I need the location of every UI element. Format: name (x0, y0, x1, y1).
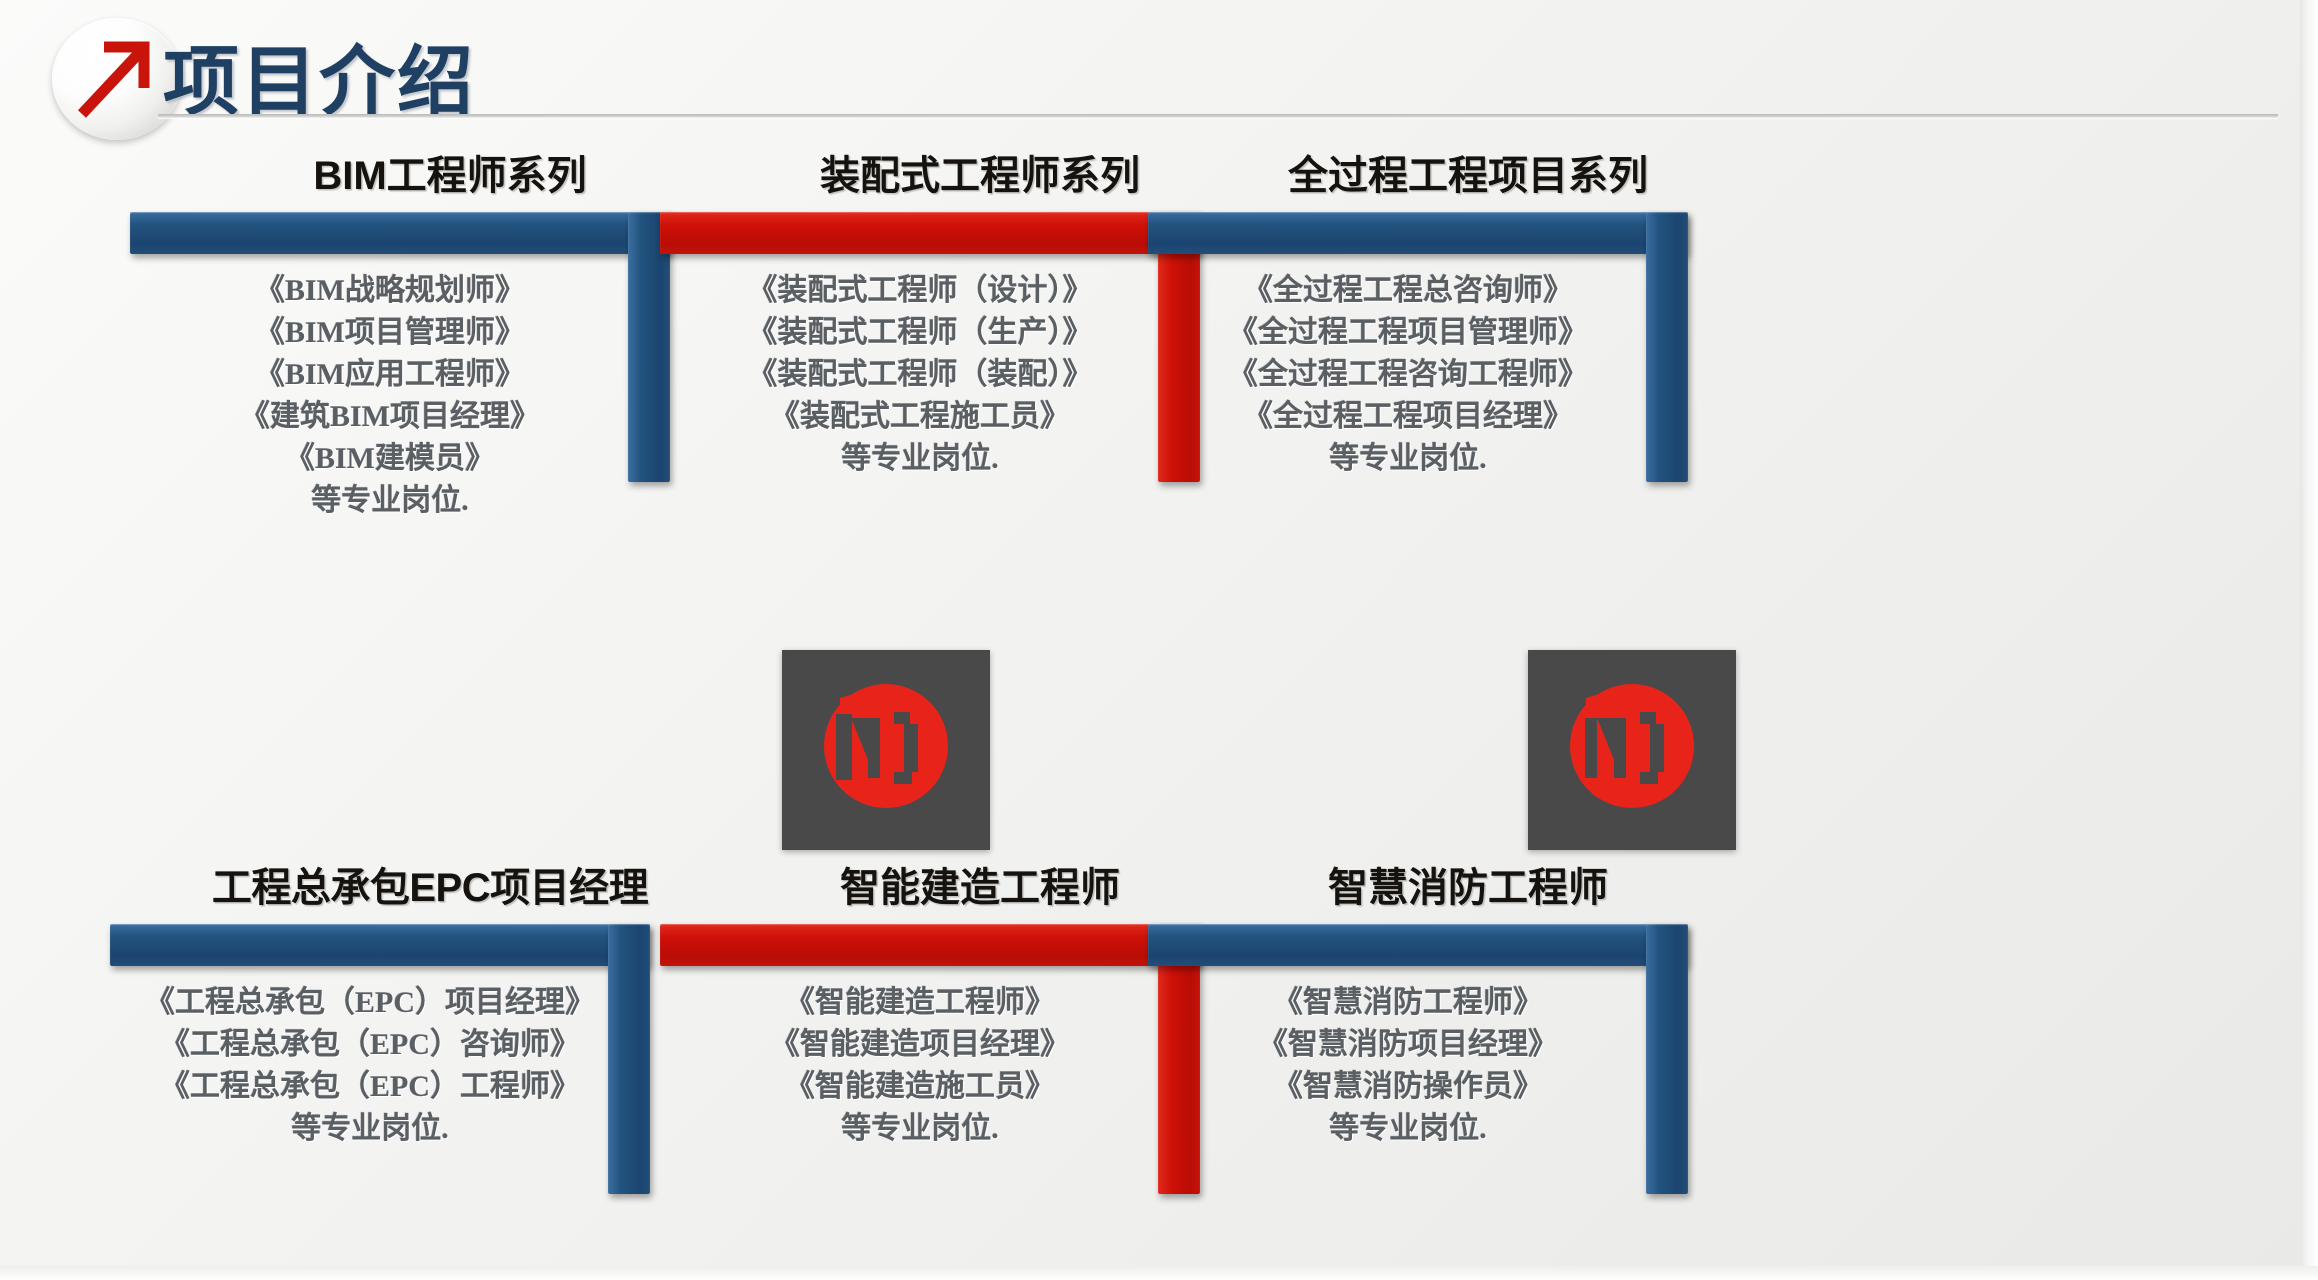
list-item: 《装配式工程施工员》 (660, 396, 1180, 438)
bracket-top-bar (1148, 924, 1688, 966)
card-title: 全过程工程项目系列 (1148, 150, 1788, 202)
list-item: 《全过程工程项目经理》 (1148, 396, 1668, 438)
list-item: 《BIM战略规划师》 (130, 270, 650, 312)
card-item-list: 《智能建造工程师》 《智能建造项目经理》 《智能建造施工员》 等专业岗位. (660, 982, 1180, 1150)
bottom-edge-strip (0, 1266, 2318, 1280)
list-item: 《工程总承包（EPC）工程师》 (110, 1066, 630, 1108)
list-item: 《智能建造施工员》 (660, 1066, 1180, 1108)
list-item: 《智能建造工程师》 (660, 982, 1180, 1024)
list-item: 《装配式工程师（生产）》 (660, 312, 1180, 354)
bracket-top-bar (110, 924, 650, 966)
card-title: 智慧消防工程师 (1148, 862, 1788, 914)
card-item-list: 《工程总承包（EPC）项目经理》 《工程总承包（EPC）咨询师》 《工程总承包（… (110, 982, 630, 1150)
ntc-logo-right (1528, 650, 1736, 850)
list-item: 等专业岗位. (660, 1108, 1180, 1150)
card-smart-firefighting-engineer[interactable]: 智慧消防工程师 《智慧消防工程师》 《智慧消防项目经理》 《智慧消防操作员》 等… (1148, 862, 1788, 1224)
list-item: 《全过程工程总咨询师》 (1148, 270, 1668, 312)
card-bracket: 《全过程工程总咨询师》 《全过程工程项目管理师》 《全过程工程咨询工程师》 《全… (1148, 212, 1788, 512)
list-item: 等专业岗位. (110, 1108, 630, 1150)
list-item: 《BIM应用工程师》 (130, 354, 650, 396)
card-epc-project-manager[interactable]: 工程总承包EPC项目经理 《工程总承包（EPC）项目经理》 《工程总承包（EPC… (110, 862, 750, 1224)
card-bracket: 《智慧消防工程师》 《智慧消防项目经理》 《智慧消防操作员》 等专业岗位. (1148, 924, 1788, 1224)
list-item: 等专业岗位. (130, 480, 650, 522)
list-item: 《智能建造项目经理》 (660, 1024, 1180, 1066)
card-item-list: 《全过程工程总咨询师》 《全过程工程项目管理师》 《全过程工程咨询工程师》 《全… (1148, 270, 1668, 480)
card-title: 工程总承包EPC项目经理 (110, 862, 750, 914)
list-item: 等专业岗位. (1148, 1108, 1668, 1150)
card-item-list: 《装配式工程师（设计）》 《装配式工程师（生产）》 《装配式工程师（装配）》 《… (660, 270, 1180, 480)
list-item: 《BIM项目管理师》 (130, 312, 650, 354)
bracket-top-bar (1148, 212, 1688, 254)
list-item: 《全过程工程咨询工程师》 (1148, 354, 1668, 396)
list-item: 《装配式工程师（装配）》 (660, 354, 1180, 396)
list-item: 《智慧消防操作员》 (1148, 1066, 1668, 1108)
bracket-top-bar (130, 212, 670, 254)
list-item: 等专业岗位. (1148, 438, 1668, 480)
list-item: 《智慧消防项目经理》 (1148, 1024, 1668, 1066)
ntc-logo-left (782, 650, 990, 850)
list-item: 等专业岗位. (660, 438, 1180, 480)
right-edge-strip (2300, 0, 2318, 1280)
list-item: 《装配式工程师（设计）》 (660, 270, 1180, 312)
page-header: 项目介绍 (0, 0, 2318, 150)
bracket-top-bar (660, 924, 1200, 966)
list-item: 《全过程工程项目管理师》 (1148, 312, 1668, 354)
card-item-list: 《智慧消防工程师》 《智慧消防项目经理》 《智慧消防操作员》 等专业岗位. (1148, 982, 1668, 1150)
header-divider (158, 114, 2278, 118)
card-bracket: 《工程总承包（EPC）项目经理》 《工程总承包（EPC）咨询师》 《工程总承包（… (110, 924, 750, 1224)
bracket-top-bar (660, 212, 1200, 254)
list-item: 《智慧消防工程师》 (1148, 982, 1668, 1024)
list-item: 《工程总承包（EPC）项目经理》 (110, 982, 630, 1024)
card-item-list: 《BIM战略规划师》 《BIM项目管理师》 《BIM应用工程师》 《建筑BIM项… (130, 270, 650, 522)
list-item: 《工程总承包（EPC）咨询师》 (110, 1024, 630, 1066)
list-item: 《BIM建模员》 (130, 438, 650, 480)
card-whole-process-project-series[interactable]: 全过程工程项目系列 《全过程工程总咨询师》 《全过程工程项目管理师》 《全过程工… (1148, 150, 1788, 512)
list-item: 《建筑BIM项目经理》 (130, 396, 650, 438)
